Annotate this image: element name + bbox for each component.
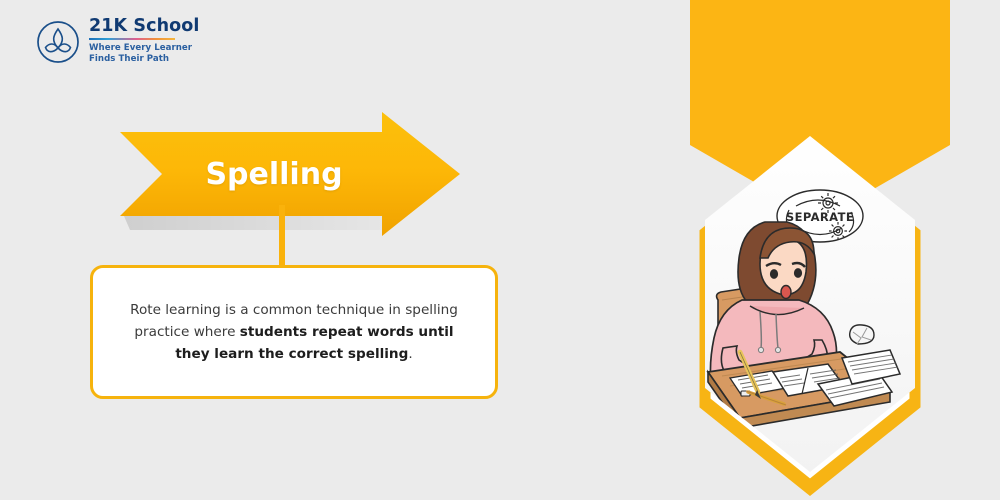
brand-tagline-line-2: Finds Their Path xyxy=(89,54,169,64)
illustration-panel: SEPARATE xyxy=(590,0,1000,500)
brand-gradient-rule xyxy=(89,38,175,40)
brand-logo-text: 21K School Where Every Learner Finds The… xyxy=(89,18,200,65)
infographic-canvas: 21K School Where Every Learner Finds The… xyxy=(0,0,1000,500)
topic-arrow-label: Spelling xyxy=(120,112,460,236)
description-text: Rote learning is a common technique in s… xyxy=(123,299,465,365)
brand-name: 21K School xyxy=(89,18,200,36)
thought-bubble-word: SEPARATE xyxy=(786,210,854,224)
description-text-end: . xyxy=(408,346,412,362)
brand-logo[interactable]: 21K School Where Every Learner Finds The… xyxy=(36,18,200,65)
open-mouth xyxy=(781,286,791,299)
brand-tagline: Where Every Learner Finds Their Path xyxy=(89,43,200,65)
student-studying-spelling-illustration: SEPARATE xyxy=(590,0,1000,500)
brand-tagline-line-1: Where Every Learner xyxy=(89,43,192,53)
lotus-circle-logo-icon xyxy=(36,20,80,64)
crumpled-paper xyxy=(850,325,874,344)
topic-arrow-banner[interactable]: Spelling xyxy=(120,112,460,236)
description-card: Rote learning is a common technique in s… xyxy=(90,265,498,399)
